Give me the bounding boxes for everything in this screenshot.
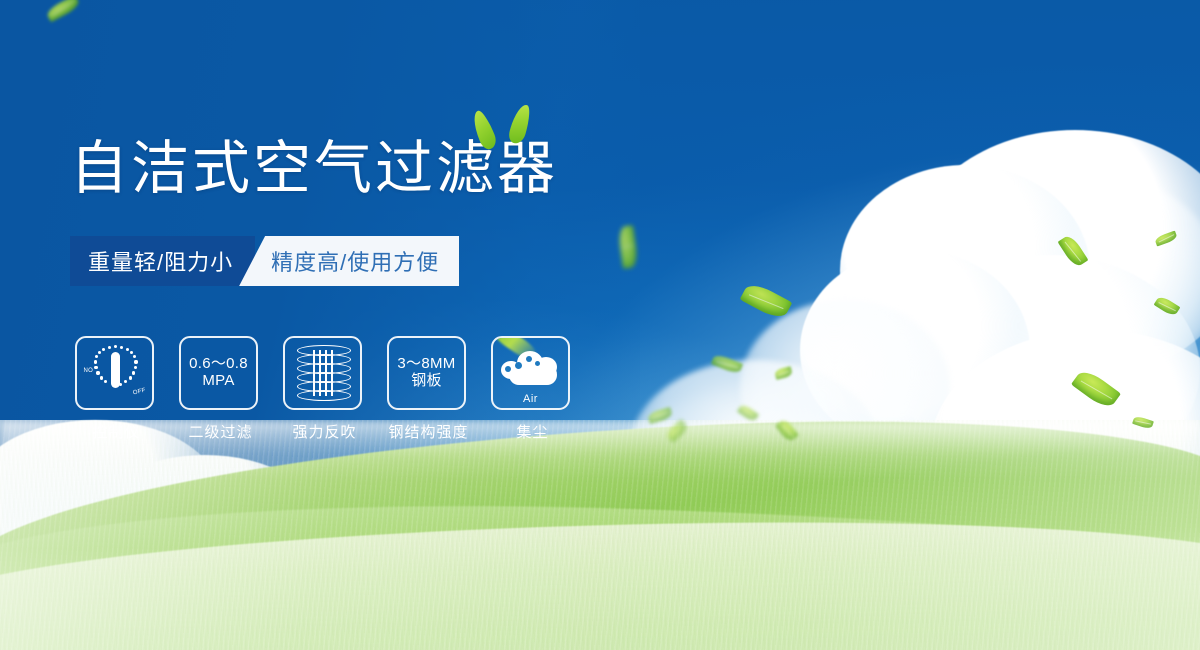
steel-plate-icon: 3～8MM 钢板 bbox=[397, 356, 455, 390]
sprout-leaf-left bbox=[469, 108, 499, 151]
sprout-leaf-right bbox=[507, 103, 533, 146]
feature-item-controller[interactable]: NO OFF 控制仪 bbox=[75, 336, 158, 442]
feature-label: 二级过滤 bbox=[179, 421, 262, 442]
feature-list: NO OFF 控制仪 0.6～0.8 MPA 二级过滤 bbox=[75, 336, 574, 442]
title-block: 自洁式空气过滤器 bbox=[70, 140, 558, 198]
feature-label: 控制仪 bbox=[75, 421, 158, 442]
gauge-no-label: NO bbox=[84, 368, 94, 374]
pressure-icon: 0.6～0.8 MPA bbox=[189, 356, 248, 390]
feature-item-dust[interactable]: Air 集尘 bbox=[491, 336, 574, 442]
feature-icon-box: Air bbox=[491, 336, 570, 410]
feature-icon-box: 0.6～0.8 MPA bbox=[179, 336, 258, 410]
feature-item-pressure[interactable]: 0.6～0.8 MPA 二级过滤 bbox=[179, 336, 262, 442]
feature-icon-box: 3～8MM 钢板 bbox=[387, 336, 466, 410]
feature-item-backblow[interactable]: 强力反吹 bbox=[283, 336, 366, 442]
air-label: Air bbox=[501, 393, 561, 405]
feature-icon-box bbox=[283, 336, 362, 410]
air-cloud-icon: Air bbox=[501, 345, 561, 401]
product-banner: 自洁式空气过滤器 重量轻/阻力小 精度高/使用方便 bbox=[0, 0, 1200, 650]
feature-label: 钢结构强度 bbox=[387, 421, 470, 442]
sprout-leaves-icon bbox=[470, 102, 560, 154]
filter-coil-icon bbox=[297, 345, 349, 401]
feature-label: 集尘 bbox=[491, 421, 574, 442]
tagline-primary: 重量轻/阻力小 bbox=[70, 236, 255, 286]
feature-icon-box: NO OFF bbox=[75, 336, 154, 410]
gauge-icon: NO OFF bbox=[84, 344, 146, 402]
tagline-bar: 重量轻/阻力小 精度高/使用方便 bbox=[70, 236, 459, 286]
feature-item-steel[interactable]: 3～8MM 钢板 钢结构强度 bbox=[387, 336, 470, 442]
gauge-needle bbox=[111, 352, 120, 388]
feature-label: 强力反吹 bbox=[283, 421, 366, 442]
tagline-secondary: 精度高/使用方便 bbox=[239, 236, 459, 286]
banner-content: 自洁式空气过滤器 重量轻/阻力小 精度高/使用方便 bbox=[0, 0, 1200, 650]
